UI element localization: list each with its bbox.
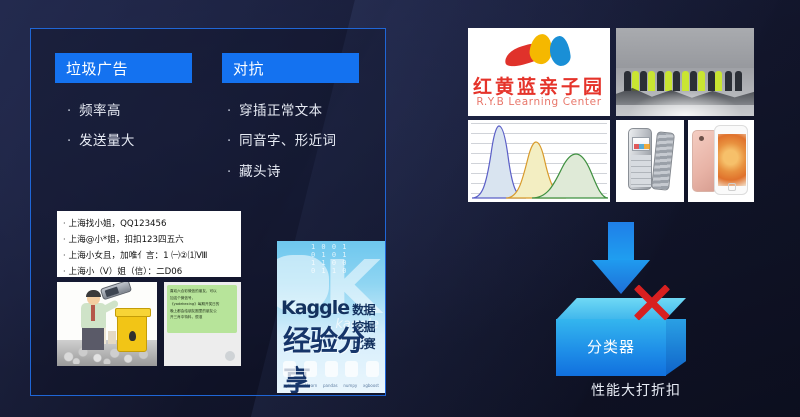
header-adversarial: 对抗 <box>222 53 359 83</box>
iphone-home-button <box>728 183 736 191</box>
spam-attack-panel: 垃圾广告 对抗 · 频率高 · 发送量大 · 穿插正常文本 · 同音字、形近词 … <box>30 28 386 396</box>
person-figure <box>698 71 705 91</box>
spam-bullet-list: · 频率高 · 发送量大 <box>67 105 135 166</box>
yellow-vest-protest-photo <box>616 28 754 116</box>
spam-examples-card: · 上海找小姐，QQ123456 · 上海@小*姐，扣扣123四五六 · 上海小… <box>57 211 241 277</box>
person-figure <box>648 71 655 91</box>
list-item-label: 上海小（V）姐（信）：二D06 <box>69 265 183 277</box>
feature-phone-body <box>628 128 652 190</box>
list-item: · 上海找小姐，QQ123456 <box>63 216 237 232</box>
list-item-label: 上海找小姐，QQ123456 <box>69 217 167 232</box>
person-figure <box>682 71 689 91</box>
iphone-rose-gold-photo <box>688 120 754 202</box>
list-item-label: 穿插正常文本 <box>239 105 322 119</box>
red-x-icon <box>630 280 674 324</box>
performance-degradation-caption: 性能大打折扣 <box>556 380 716 400</box>
poster-caption: pandas <box>323 383 338 388</box>
poster-caption: xgboost <box>363 383 379 388</box>
bullet-dot-icon: · <box>227 166 231 180</box>
list-item-label: 上海@小*姐，扣扣123四五六 <box>69 233 184 248</box>
photo-crowd <box>619 54 751 91</box>
trash-phone-cartoon-image <box>57 282 157 366</box>
cube-side-face <box>665 319 686 376</box>
phone-back-cover <box>651 131 675 191</box>
person-figure <box>735 71 742 91</box>
list-item: · 上海@小*姐，扣扣123四五六 <box>63 232 237 248</box>
distribution-histogram-chart <box>468 120 610 202</box>
chat-avatar <box>225 351 235 361</box>
chart-curves <box>468 120 610 202</box>
phone-keypad <box>631 155 651 187</box>
person-figure <box>690 71 697 91</box>
ryb-kindergarten-logo-image: 红黄蓝亲子园 R.Y.B Learning Center <box>468 28 610 116</box>
poster-icon-row <box>283 355 379 377</box>
giant-phone-icon <box>100 282 132 300</box>
list-item: · 藏头诗 <box>227 166 336 180</box>
iphone-front-white <box>714 125 748 195</box>
cartoon-person-icon <box>75 290 115 350</box>
trash-bin-icon <box>117 312 147 352</box>
list-item: · 上海小女且，加唯亻言：1 ㈠②⑴Ⅷ <box>63 248 237 264</box>
list-item-label: 上海小女且，加唯亻言：1 ㈠②⑴Ⅷ <box>69 249 208 264</box>
bullet-dot-icon: · <box>63 216 66 231</box>
person-figure <box>673 71 680 91</box>
bullet-dot-icon: · <box>227 135 231 149</box>
poster-caption: python <box>283 383 297 388</box>
poster-icon <box>283 361 296 377</box>
poster-caption: numpy <box>343 383 357 388</box>
cartoon-hair <box>86 290 101 297</box>
photo-smoke <box>627 91 743 116</box>
list-item: · 频率高 <box>67 105 135 119</box>
list-item: · 上海小（V）姐（信）：二D06 <box>63 264 237 277</box>
kaggle-brand-label: Kaggle <box>281 297 349 319</box>
blue-stroke <box>548 35 571 67</box>
list-item-label: 频率高 <box>79 105 121 119</box>
logo-cn-label: 红黄蓝亲子园 <box>468 72 610 99</box>
person-figure <box>715 71 722 91</box>
list-item: · 同音字、形近词 <box>227 135 336 149</box>
adversarial-bullet-list: · 穿插正常文本 · 同音字、形近词 · 藏头诗 <box>227 105 336 196</box>
poster-icon <box>366 361 379 377</box>
poster-caption: sklearn <box>303 383 318 388</box>
bullet-dot-icon: · <box>67 105 71 119</box>
wechat-spam-screenshot: 喜欢六合彩微信的朋友，可以 加这个微信号， 《yadekexing》每期开奖日的… <box>164 282 241 366</box>
poster-icon <box>304 361 317 377</box>
header-adversarial-label: 对抗 <box>233 58 264 79</box>
chat-bubble: 喜欢六合彩微信的朋友，可以 加这个微信号， 《yadekexing》每期开奖日的… <box>167 285 237 333</box>
logo-en-label: R.Y.B Learning Center <box>468 96 610 108</box>
list-item-label: 藏头诗 <box>239 166 281 180</box>
list-item: · 穿插正常文本 <box>227 105 336 119</box>
person-figure <box>640 71 647 91</box>
cartoon-tie <box>91 305 95 321</box>
list-item-label: 发送量大 <box>79 135 135 149</box>
person-figure <box>725 71 732 91</box>
kaggle-poster-image: 1 0 0 1 0 1 0 1 1 1 0 0 0 1 1 0 K kaggle… <box>277 241 385 393</box>
list-item-label: 同音字、形近词 <box>239 135 336 149</box>
phone-screen <box>632 137 650 151</box>
person-figure <box>624 71 631 91</box>
bullet-dot-icon: · <box>63 264 66 277</box>
series-blue <box>472 126 526 198</box>
poster-icon <box>345 361 358 377</box>
person-figure <box>708 71 715 91</box>
person-figure <box>657 71 664 91</box>
header-spam-ads-label: 垃圾广告 <box>66 58 128 79</box>
person-figure <box>665 71 672 91</box>
arrow-shaft <box>608 222 634 262</box>
feature-phone-photo <box>616 120 684 202</box>
chat-line: 开三肖中特料，很准 <box>170 314 234 321</box>
poster-icon <box>325 361 338 377</box>
bullet-dot-icon: · <box>227 105 231 119</box>
list-item: · 发送量大 <box>67 135 135 149</box>
bullet-dot-icon: · <box>63 232 66 247</box>
bullet-dot-icon: · <box>63 248 66 263</box>
bullet-dot-icon: · <box>67 135 71 149</box>
poster-caption-row: python sklearn pandas numpy xgboost <box>283 383 379 388</box>
classifier-label: 分类器 <box>556 336 666 357</box>
header-spam-ads: 垃圾广告 <box>55 53 192 83</box>
cartoon-legs <box>82 326 104 350</box>
iphone-display-wallpaper <box>718 134 746 186</box>
ryb-butterfly-icon <box>504 34 576 68</box>
